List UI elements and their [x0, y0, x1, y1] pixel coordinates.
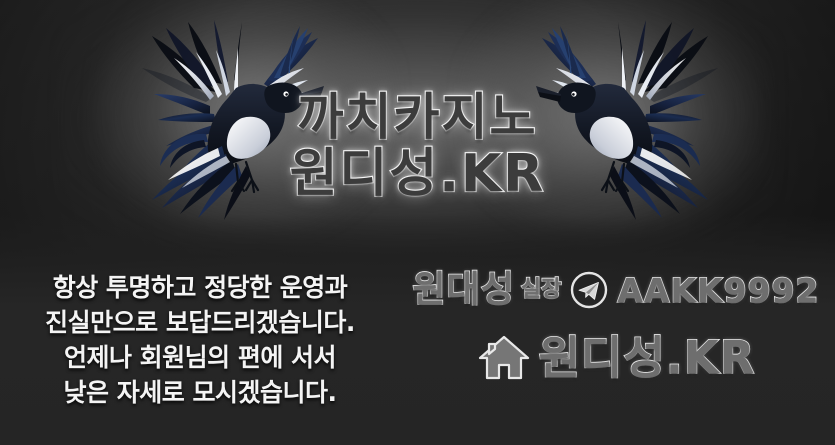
- slogan-line-2: 진실만으로 보답드리겠습니다.: [14, 305, 386, 340]
- home-icon[interactable]: [477, 332, 531, 382]
- site-url[interactable]: 원디성.KR: [539, 335, 756, 380]
- telegram-contact-row[interactable]: 원대성 실장 AAKK9992: [406, 270, 826, 310]
- manager-role: 실장: [521, 279, 561, 301]
- slogan-line-4: 낮은 자세로 모시겠습니다.: [14, 375, 386, 410]
- telegram-icon[interactable]: [569, 270, 609, 310]
- casino-promo-banner: 까치카지노 원디성.KR 항상 투명하고 정당한 운영과 진실만으로 보답드리겠…: [0, 0, 835, 445]
- contact-block: 원대성 실장 AAKK9992 원디성.KR: [406, 266, 826, 382]
- site-url-row[interactable]: 원디성.KR: [406, 332, 826, 382]
- telegram-id[interactable]: AAKK9992: [617, 274, 819, 307]
- manager-name: 원대성: [413, 272, 515, 308]
- slogan-block: 항상 투명하고 정당한 운영과 진실만으로 보답드리겠습니다. 언제나 회원님의…: [14, 270, 386, 410]
- slogan-line-3: 언제나 회원님의 편에 서서: [14, 340, 386, 375]
- slogan-line-1: 항상 투명하고 정당한 운영과: [14, 270, 386, 305]
